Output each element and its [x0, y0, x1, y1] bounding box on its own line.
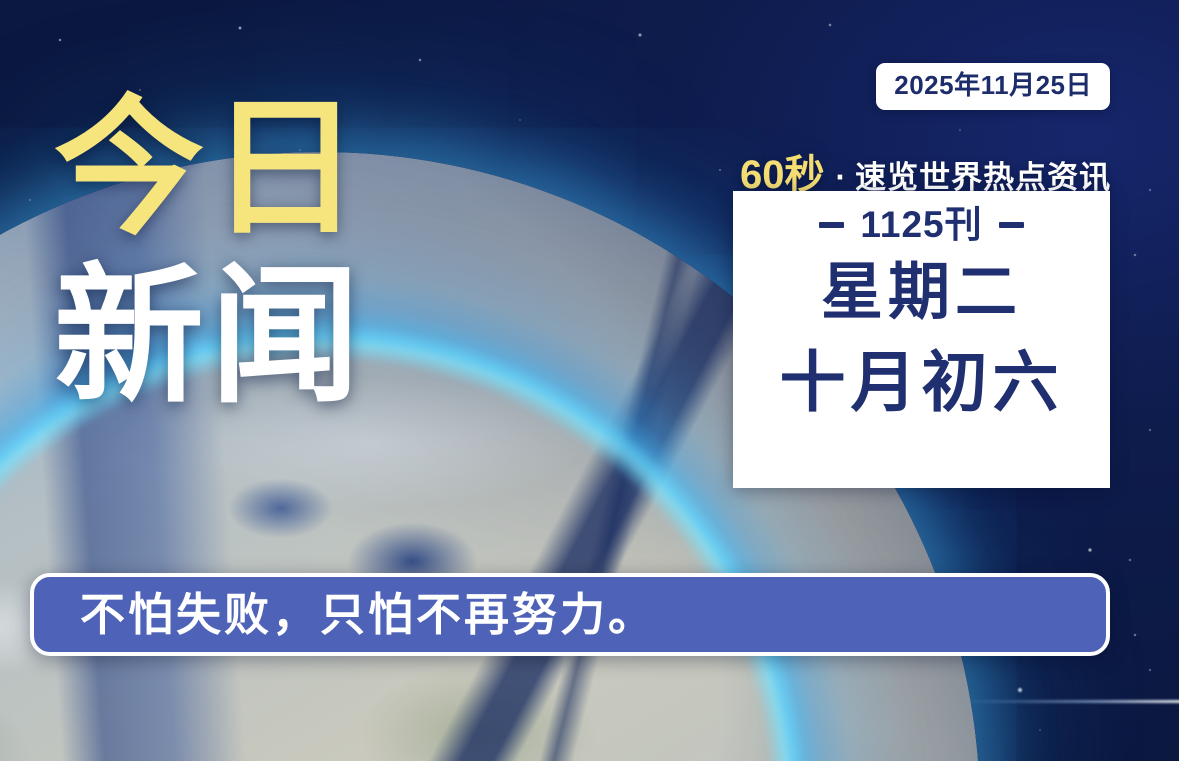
poster-headline: 今日 新闻 — [54, 96, 366, 408]
date-badge: 2025年11月25日 — [876, 63, 1110, 110]
issue-number: 1125刊 — [860, 202, 982, 248]
weekday-label: 星期二 — [821, 260, 1022, 327]
issue-dash-right-icon — [999, 222, 1024, 228]
lunar-date-label: 十月初六 — [780, 347, 1064, 418]
issue-number-row: 1125刊 — [819, 202, 1023, 248]
news-poster: 2025年11月25日 今日 新闻 60秒 · 速览世界热点资讯 1125刊 星… — [0, 0, 1179, 761]
headline-line-today: 今日 — [54, 96, 366, 240]
quote-bar: 不怕失败，只怕不再努力。 — [30, 573, 1110, 656]
headline-line-news: 新闻 — [54, 264, 366, 408]
issue-dash-left-icon — [819, 222, 844, 228]
quote-text: 不怕失败，只怕不再努力。 — [34, 592, 656, 637]
info-card: 1125刊 星期二 十月初六 — [733, 191, 1110, 488]
